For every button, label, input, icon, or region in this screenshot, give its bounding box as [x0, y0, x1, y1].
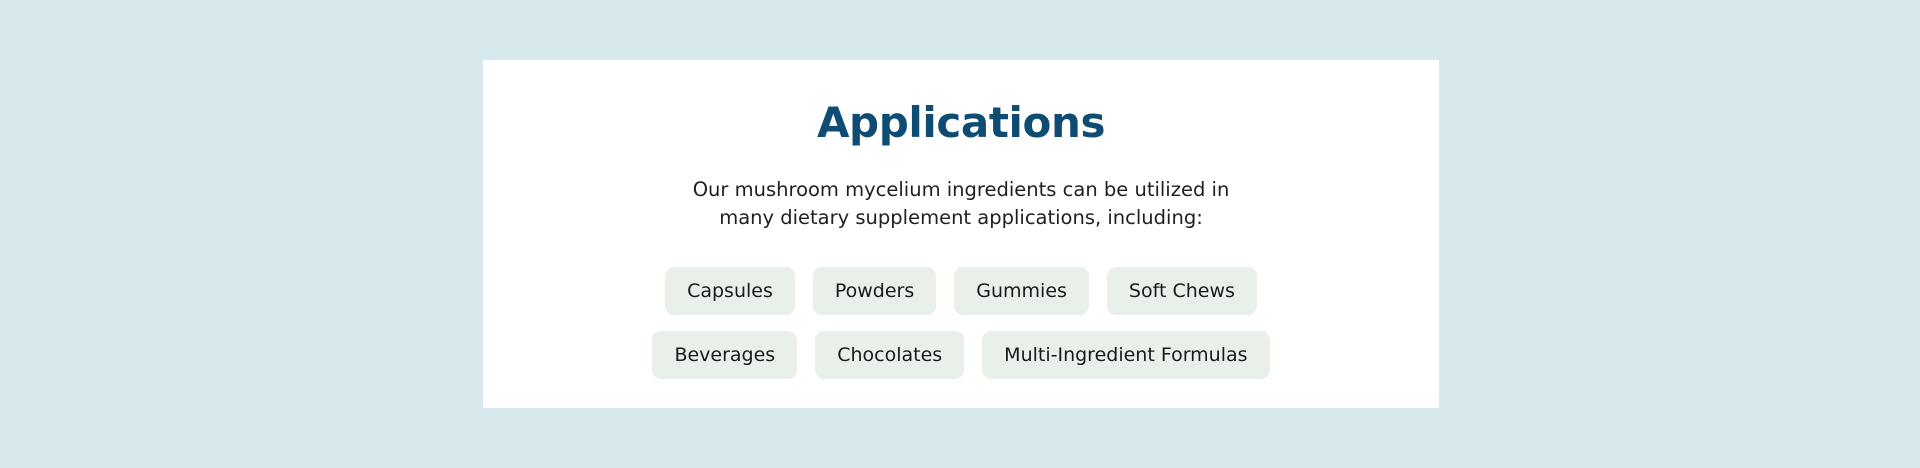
page-root: Applications Our mushroom mycelium ingre…: [0, 0, 1920, 468]
tag-pill-chocolates[interactable]: Chocolates: [815, 331, 964, 379]
applications-card: Applications Our mushroom mycelium ingre…: [483, 60, 1439, 408]
tag-pill-powders[interactable]: Powders: [813, 267, 936, 315]
tag-pill-gummies[interactable]: Gummies: [954, 267, 1089, 315]
section-subtitle: Our mushroom mycelium ingredients can be…: [693, 176, 1230, 231]
application-tag-list: Capsules Powders Gummies Soft Chews Beve…: [652, 267, 1269, 379]
tag-row: Capsules Powders Gummies Soft Chews: [665, 267, 1257, 315]
tag-pill-capsules[interactable]: Capsules: [665, 267, 795, 315]
tag-pill-multi-ingredient-formulas[interactable]: Multi-Ingredient Formulas: [982, 331, 1269, 379]
tag-pill-soft-chews[interactable]: Soft Chews: [1107, 267, 1257, 315]
tag-row: Beverages Chocolates Multi-Ingredient Fo…: [652, 331, 1269, 379]
page-title: Applications: [817, 102, 1105, 144]
tag-pill-beverages[interactable]: Beverages: [652, 331, 797, 379]
